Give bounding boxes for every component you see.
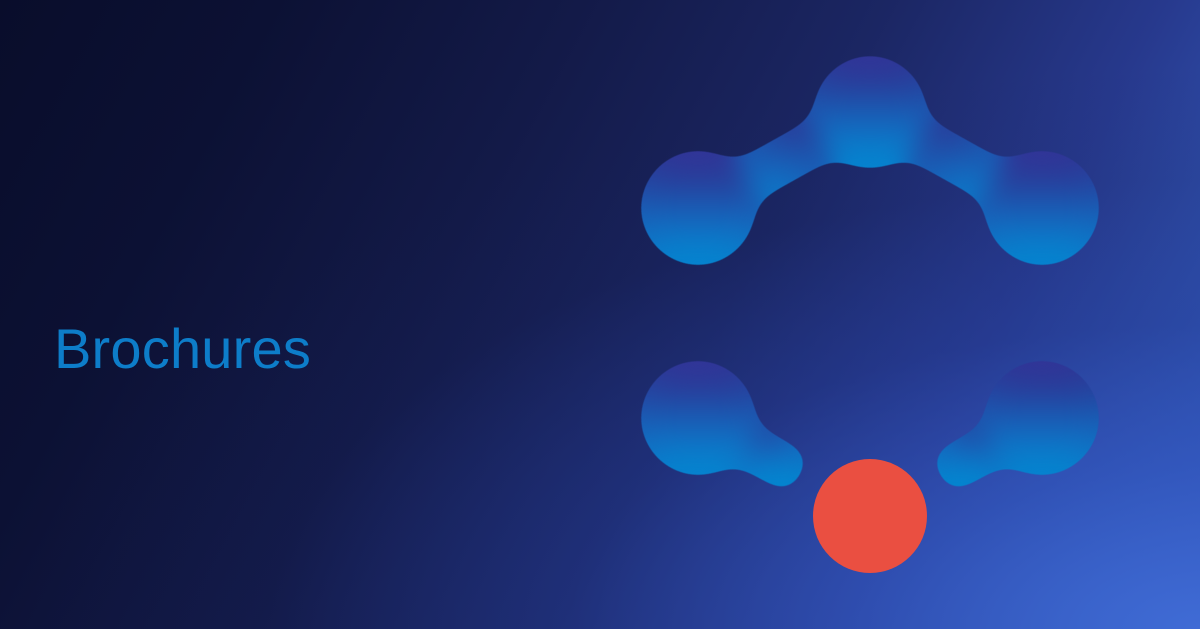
- molecule-icon: [0, 0, 1200, 629]
- bond-top-to-upper-right: [870, 112, 1042, 208]
- node-lower-right: [985, 361, 1099, 475]
- node-bottom-accent: [813, 459, 927, 573]
- node-top: [814, 56, 926, 168]
- bond-lower-left-stub: [698, 418, 800, 475]
- node-upper-left: [641, 151, 755, 265]
- brochures-banner: Brochures: [0, 0, 1200, 629]
- node-upper-right: [985, 151, 1099, 265]
- bond-top-to-upper-left: [698, 112, 870, 208]
- node-lower-left: [641, 361, 755, 475]
- bond-lower-right-stub: [940, 418, 1042, 475]
- page-title: Brochures: [54, 318, 311, 381]
- molecule-lattice: [641, 56, 1099, 475]
